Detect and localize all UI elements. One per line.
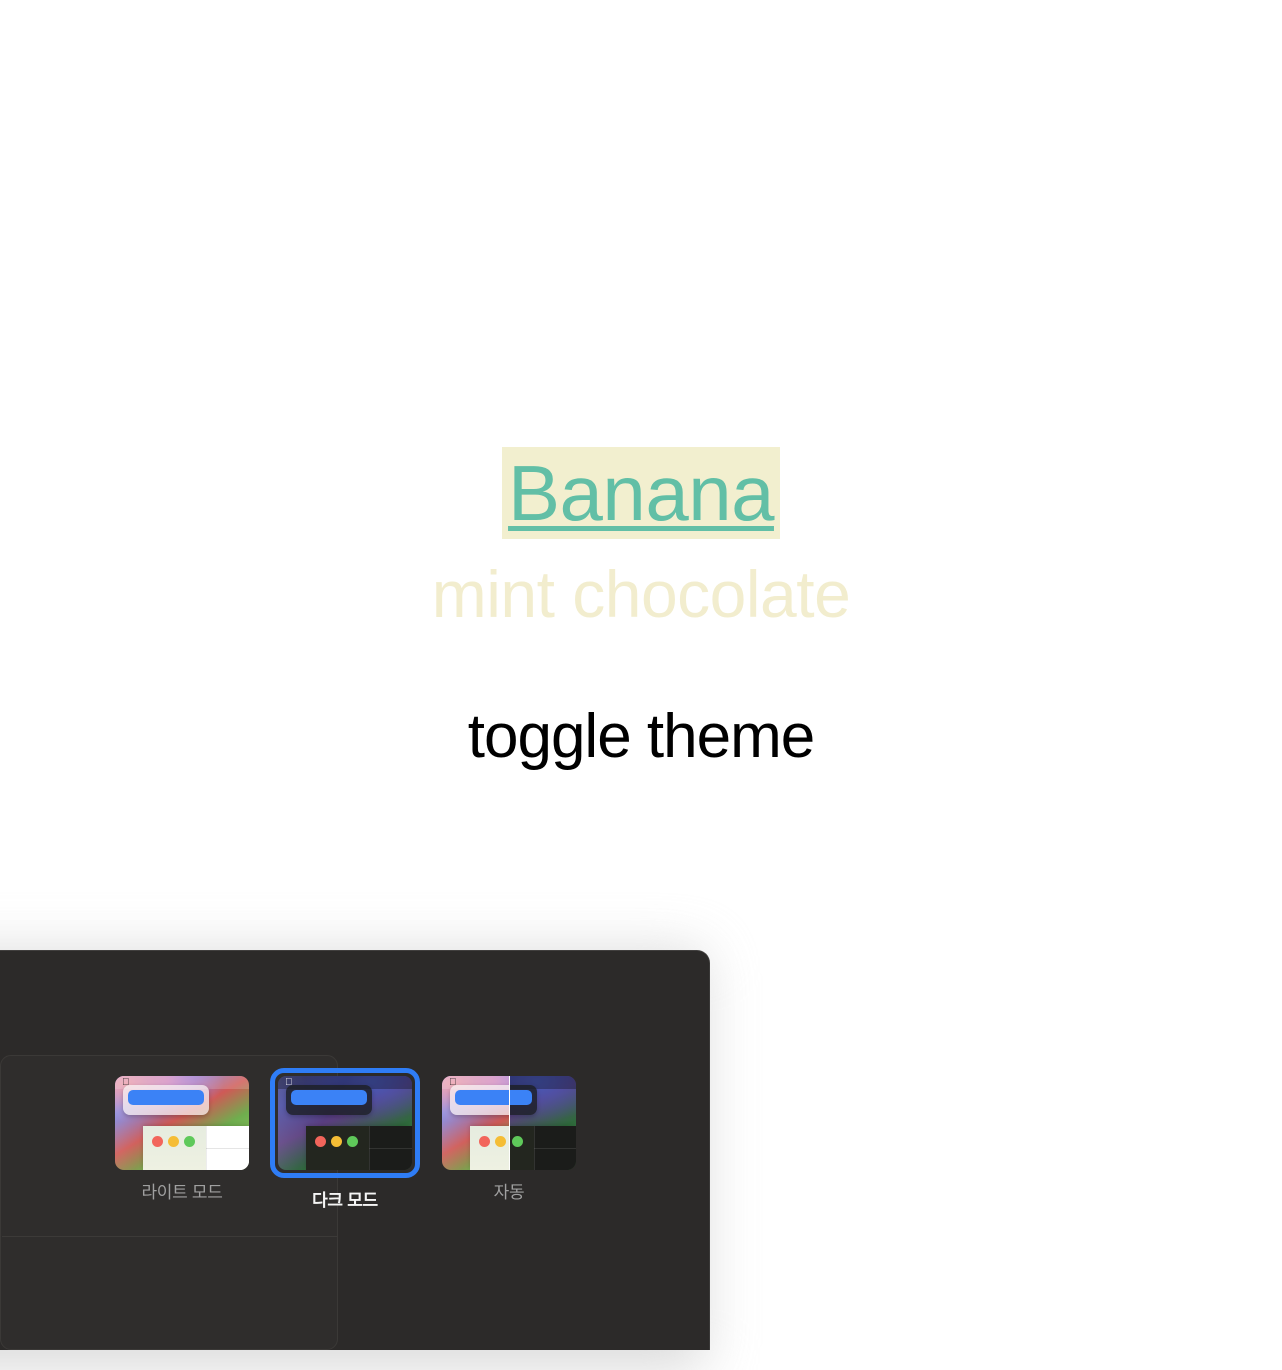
appearance-option-dark[interactable]:  <box>278 1076 412 1212</box>
traffic-light-zoom-icon <box>512 1136 523 1147</box>
floating-panel-preview <box>286 1085 372 1115</box>
window-sidebar-preview <box>470 1126 509 1170</box>
traffic-light-close-icon <box>315 1136 326 1147</box>
settings-card-divider <box>2 1236 338 1237</box>
subtitle-mint-chocolate: mint chocolate <box>0 558 1282 630</box>
light-mode-thumbnail:  <box>115 1076 249 1170</box>
traffic-light-zoom-icon <box>347 1136 358 1147</box>
banana-link[interactable]: Banana <box>502 447 780 539</box>
auto-thumbnail-light-half:  <box>442 1076 509 1170</box>
web-page-content: Banana mint chocolate toggle theme <box>0 0 1282 940</box>
document-window-preview <box>143 1126 249 1170</box>
window-sidebar-preview <box>306 1126 369 1170</box>
appearance-options-row:  <box>1 1076 339 1236</box>
floating-panel-preview <box>123 1085 209 1115</box>
window-content-divider <box>534 1148 576 1149</box>
floating-panel-preview <box>450 1085 509 1115</box>
document-window-preview <box>306 1126 412 1170</box>
banana-link-container: Banana <box>0 447 1282 539</box>
traffic-light-close-icon <box>152 1136 163 1147</box>
auto-thumbnail-dark-half:  <box>509 1076 576 1170</box>
dark-mode-thumbnail-frame[interactable]:  <box>270 1068 420 1178</box>
appearance-option-auto[interactable]:  <box>442 1076 576 1204</box>
dark-mode-thumbnail:  <box>278 1076 412 1170</box>
window-sidebar-preview <box>509 1126 534 1170</box>
document-window-preview <box>509 1126 576 1170</box>
window-content-divider <box>206 1148 249 1149</box>
traffic-light-minimize-icon <box>168 1136 179 1147</box>
floating-panel-preview <box>509 1085 537 1115</box>
appearance-option-label-light: 라이트 모드 <box>115 1182 249 1204</box>
traffic-light-minimize-icon <box>495 1136 506 1147</box>
highlighted-row-preview <box>509 1090 532 1105</box>
window-sidebar-preview <box>143 1126 206 1170</box>
auto-mode-thumbnail:  <box>442 1076 576 1170</box>
document-window-preview <box>470 1126 509 1170</box>
appearance-option-light[interactable]:  <box>115 1076 249 1204</box>
highlighted-row-preview <box>455 1090 509 1105</box>
appearance-option-label-auto: 자동 <box>442 1182 576 1204</box>
traffic-light-minimize-icon <box>331 1136 342 1147</box>
traffic-light-zoom-icon <box>184 1136 195 1147</box>
highlighted-row-preview <box>291 1090 367 1105</box>
light-mode-thumbnail-frame[interactable]:  <box>115 1076 249 1170</box>
window-content-divider <box>369 1148 412 1149</box>
appearance-settings-card:  <box>0 1055 338 1350</box>
auto-mode-thumbnail-frame[interactable]:  <box>442 1076 576 1170</box>
highlighted-row-preview <box>128 1090 204 1105</box>
traffic-light-close-icon <box>479 1136 490 1147</box>
toggle-theme-heading[interactable]: toggle theme <box>0 700 1282 774</box>
window-toolbar <box>0 950 710 1055</box>
system-settings-window:  <box>0 950 710 1350</box>
appearance-option-label-dark: 다크 모드 <box>278 1190 412 1212</box>
